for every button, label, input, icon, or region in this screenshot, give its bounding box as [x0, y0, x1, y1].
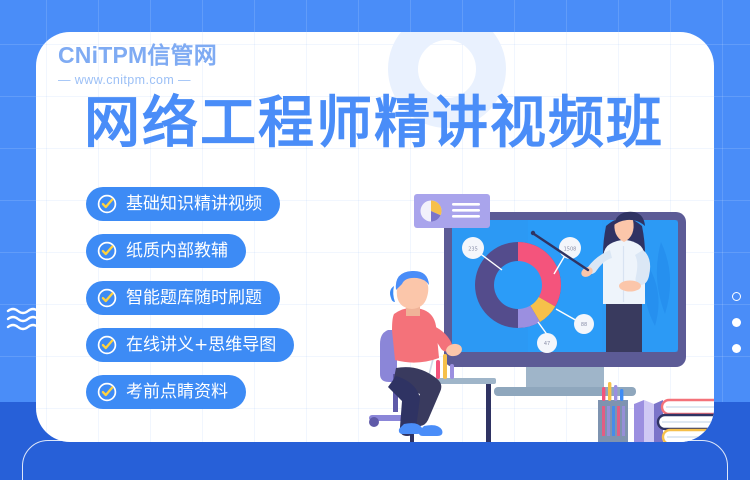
online-class-illustration: 235 1508 88 47	[366, 182, 714, 442]
feature-list: 基础知识精讲视频 纸质内部教辅 智能题库随时刷题	[86, 187, 294, 409]
promo-banner: CNiTPM信管网 — www.cnitpm.com — 网络工程师精讲视频班 …	[0, 0, 750, 480]
donut-chart	[475, 242, 561, 328]
feature-label: 考前点睛资料	[126, 384, 228, 401]
logo-brand-latin: CNiTPM	[58, 42, 147, 68]
svg-text:1508: 1508	[564, 247, 577, 253]
feature-item-4[interactable]: 在线讲义+思维导图	[86, 328, 294, 362]
feature-item-3[interactable]: 智能题库随时刷题	[86, 281, 280, 315]
feature-label: 纸质内部教辅	[126, 243, 228, 260]
page-title: 网络工程师精讲视频班	[44, 95, 704, 154]
dot-filled-icon	[732, 318, 741, 327]
monitor-stand	[526, 367, 604, 389]
feature-label: 基础知识精讲视频	[126, 196, 262, 213]
check-circle-icon	[97, 288, 117, 308]
dot-hollow-icon	[732, 292, 741, 301]
check-circle-icon	[97, 241, 117, 261]
right-dots-decoration	[732, 292, 741, 353]
logo-website: — www.cnitpm.com —	[58, 73, 217, 87]
check-circle-icon	[97, 335, 117, 355]
svg-text:47: 47	[544, 341, 550, 347]
dot-filled-icon	[732, 344, 741, 353]
check-circle-icon	[97, 382, 117, 402]
feature-label: 在线讲义+思维导图	[126, 337, 276, 354]
book-stack	[658, 400, 714, 442]
check-circle-icon	[97, 194, 117, 214]
feature-label: 智能题库随时刷题	[126, 290, 262, 307]
feature-item-1[interactable]: 基础知识精讲视频	[86, 187, 280, 221]
info-card	[414, 194, 490, 228]
svg-text:88: 88	[581, 322, 587, 328]
logo: CNiTPM信管网 — www.cnitpm.com —	[58, 44, 217, 87]
logo-text: CNiTPM信管网	[58, 44, 217, 67]
logo-brand-cn: 信管网	[147, 42, 217, 68]
feature-item-2[interactable]: 纸质内部教辅	[86, 234, 246, 268]
content-card: CNiTPM信管网 — www.cnitpm.com — 网络工程师精讲视频班 …	[36, 32, 714, 442]
feature-item-5[interactable]: 考前点睛资料	[86, 375, 246, 409]
bottom-outline	[22, 440, 728, 480]
svg-text:235: 235	[468, 247, 478, 253]
